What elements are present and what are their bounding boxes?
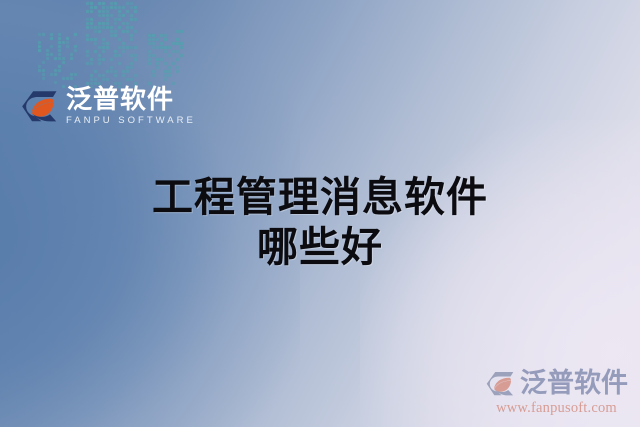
promo-banner: 泛普软件 FANPU SOFTWARE 工程管理消息软件 哪些好 泛普软件 ww… bbox=[0, 0, 640, 427]
fanpu-shield-logo-icon bbox=[20, 86, 60, 126]
watermark-logo-row: 泛普软件 bbox=[485, 368, 628, 399]
headline-line-2: 哪些好 bbox=[0, 222, 640, 272]
watermark: 泛普软件 www.fanpusoft.com bbox=[485, 368, 628, 416]
watermark-chinese-name: 泛普软件 bbox=[520, 370, 628, 397]
headline: 工程管理消息软件 哪些好 bbox=[0, 172, 640, 272]
fanpu-shield-logo-icon bbox=[485, 368, 516, 399]
pixel-city-skyline-icon bbox=[38, 0, 188, 88]
brand-chinese-name: 泛普软件 bbox=[66, 87, 196, 113]
brand-english-name: FANPU SOFTWARE bbox=[66, 116, 196, 126]
headline-line-1: 工程管理消息软件 bbox=[0, 172, 640, 222]
brand-logo-text: 泛普软件 FANPU SOFTWARE bbox=[66, 87, 196, 126]
watermark-url: www.fanpusoft.com bbox=[496, 401, 617, 416]
brand-logo: 泛普软件 FANPU SOFTWARE bbox=[20, 86, 196, 126]
